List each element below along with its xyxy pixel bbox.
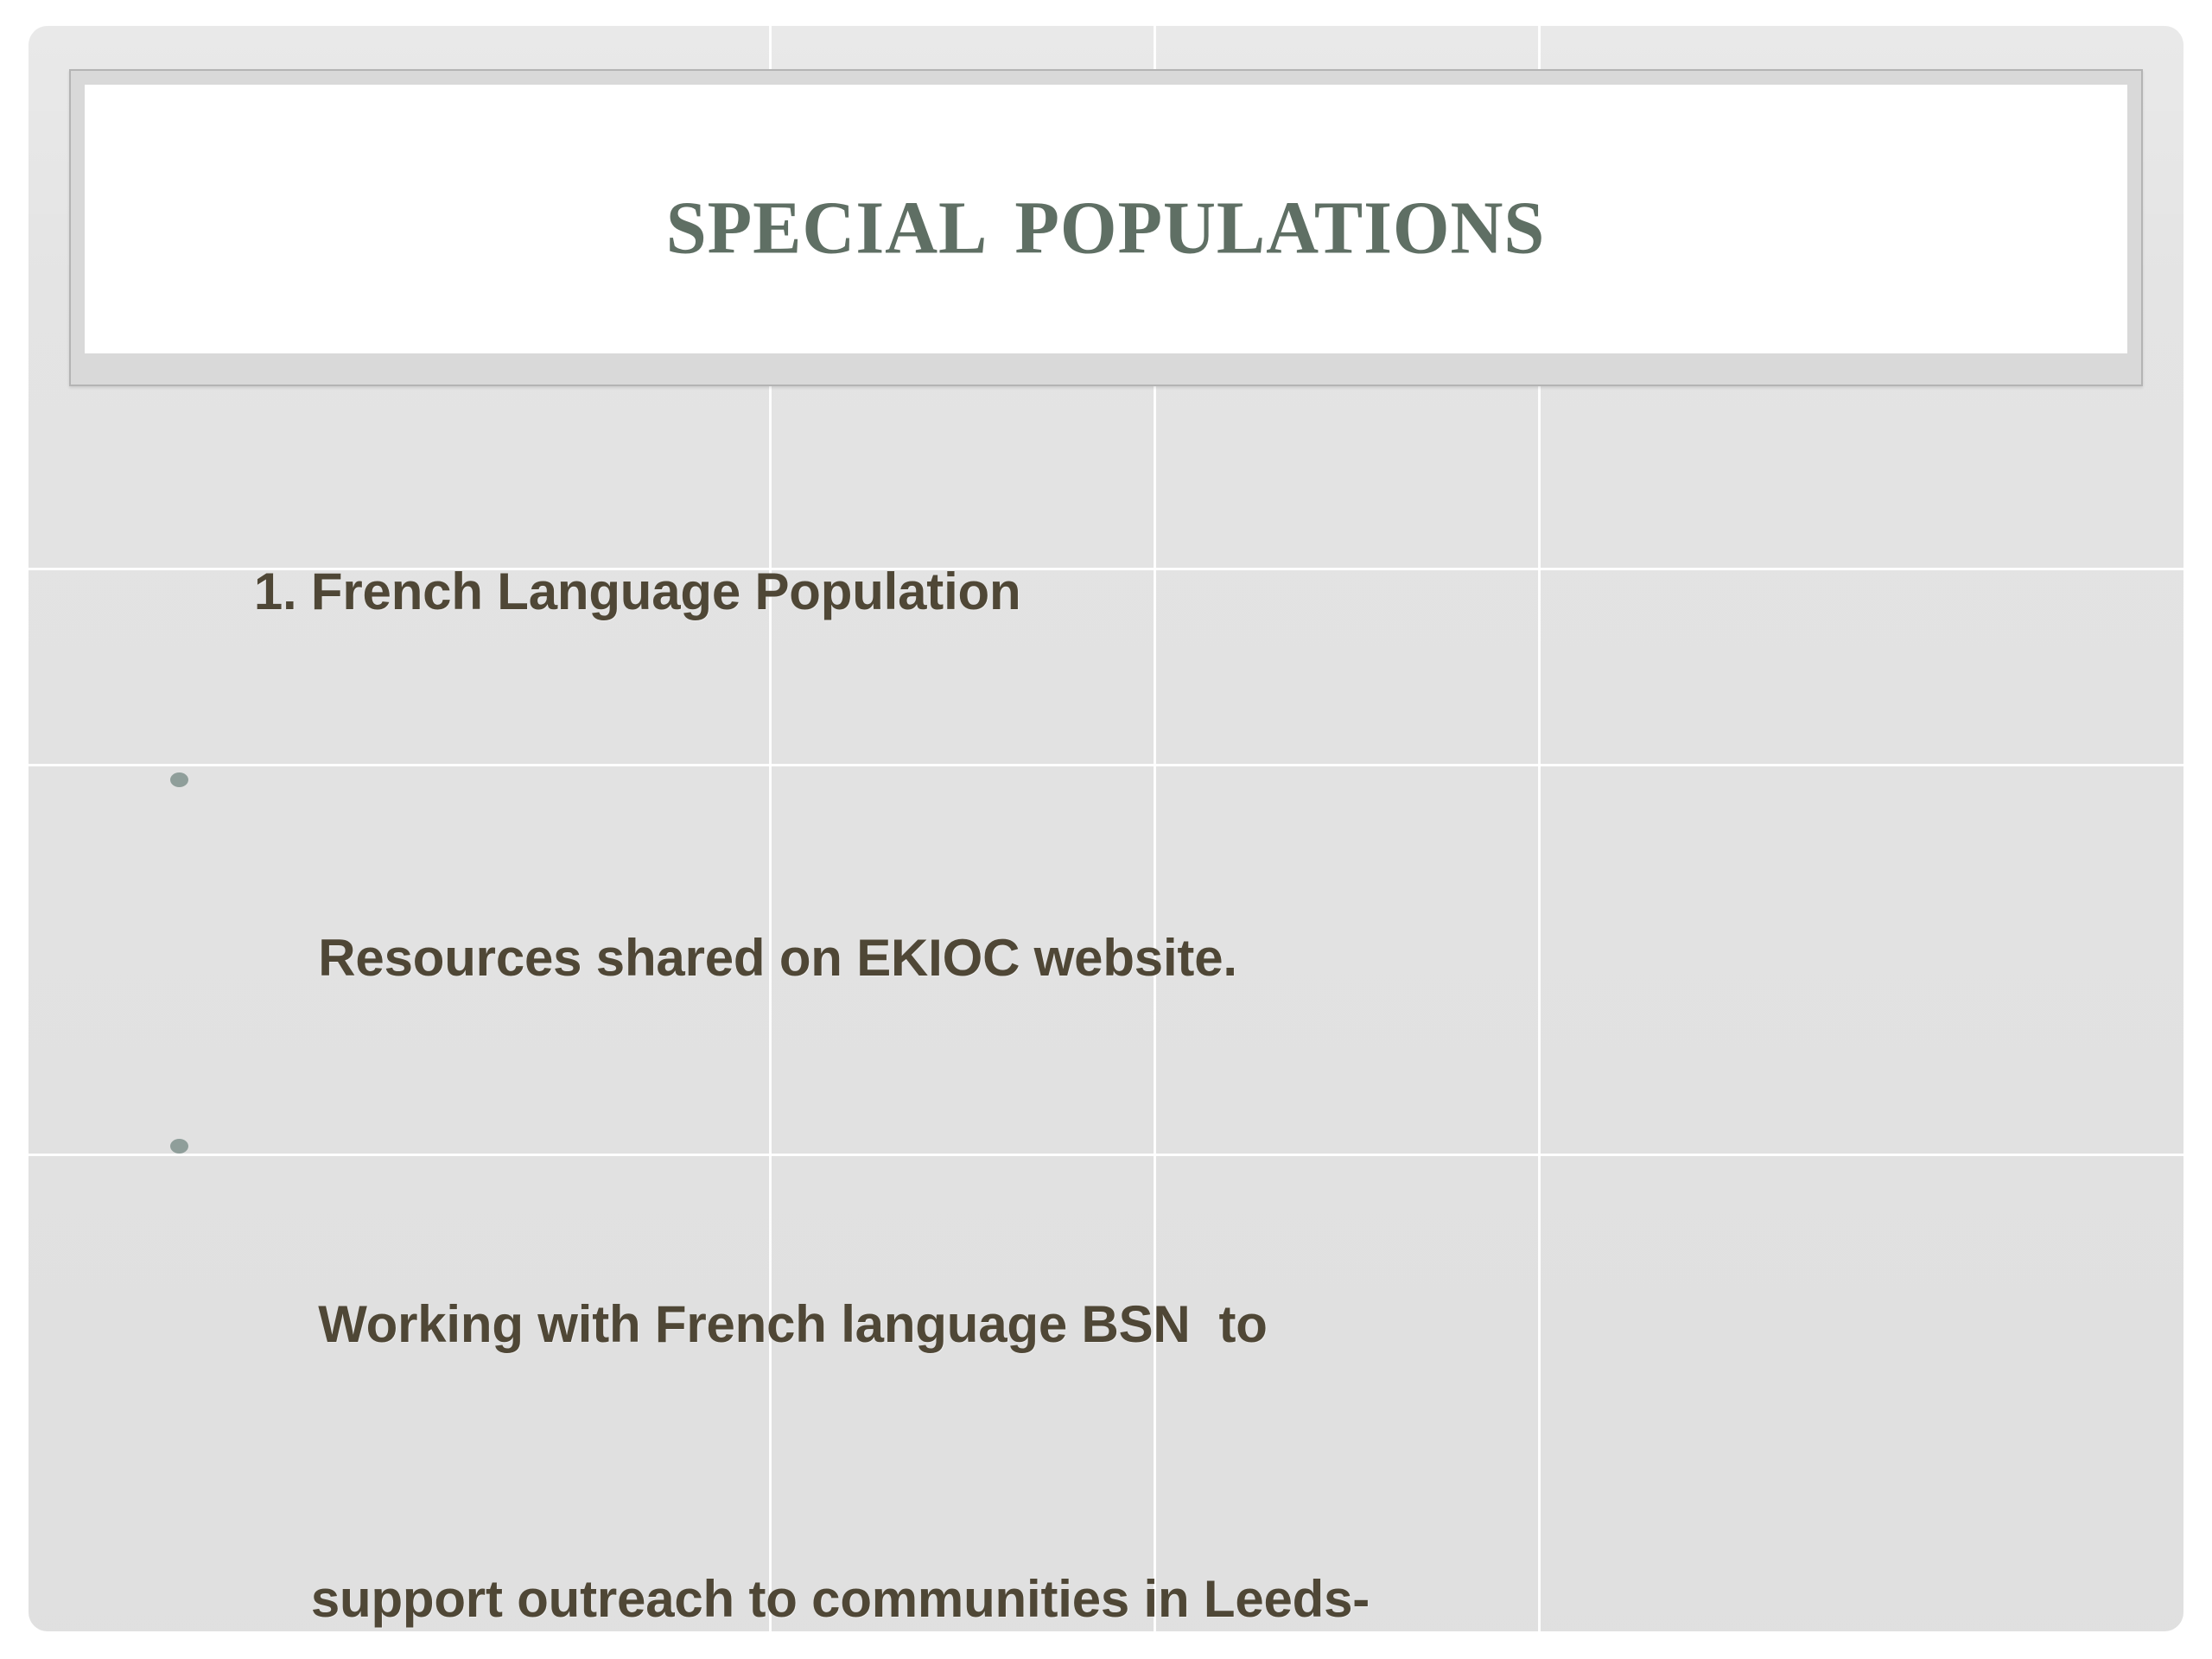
list-item-label: 1. French Language Population [254,546,1021,638]
title-frame: Special Populations [69,69,2143,386]
content-body: 1. French Language Population Resources … [29,454,2183,1631]
list-item-label: Resources shared on EKIOC website. [304,912,1237,1004]
bullet-icon [170,772,188,787]
list-item-label: Working with French language BSN to [304,1279,1268,1370]
list-item-2-wrap-a: support outreach to communities in Leeds… [29,1462,2183,1631]
list-item-2: Working with French language BSN to [29,1096,2183,1462]
page-title-text: Special Populations [666,163,1546,270]
list-item-label: support outreach to communities in Leeds… [311,1554,1370,1631]
list-item-heading-1: 1. French Language Population [29,454,2183,729]
page-title: Special Populations [85,163,2127,270]
slide-canvas: Special Populations 1. French Language P… [29,26,2183,1631]
title-box: Special Populations [85,85,2127,353]
bullet-icon [170,1139,188,1154]
list-item-1: Resources shared on EKIOC website. [29,729,2183,1096]
